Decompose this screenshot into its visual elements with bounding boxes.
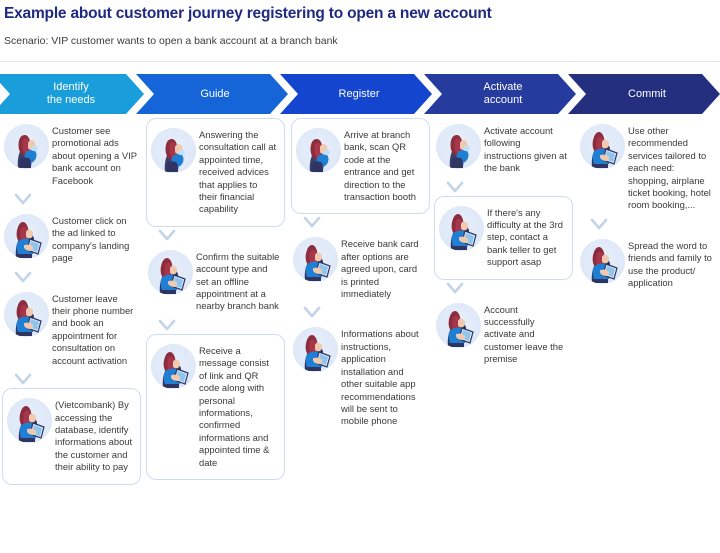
journey-column-1: Customer see promotional ads about openi… <box>2 118 141 487</box>
journey-step-text: Account successfully activate and custom… <box>484 302 569 366</box>
journey-step[interactable]: Customer see promotional ads about openi… <box>2 118 141 191</box>
person-laptop-avatar <box>580 239 625 284</box>
journey-step[interactable]: Confirm the suitable account type and se… <box>146 244 285 317</box>
journey-step-text: Answering the consultation call at appoi… <box>199 127 278 216</box>
person-laptop-avatar <box>293 327 338 372</box>
journey-step-text: Receive a message consist of link and QR… <box>199 343 278 469</box>
journey-column-3: Arrive at branch bank, scan QR code at t… <box>291 118 430 434</box>
chevron-down-icon <box>588 216 610 233</box>
journey-step-text: Arrive at branch bank, scan QR code at t… <box>344 127 423 203</box>
person-laptop-avatar <box>4 214 49 259</box>
stage-label: Guide <box>200 88 229 101</box>
journey-step-text: Use other recommended services tailored … <box>628 123 713 212</box>
person-laptop-avatar <box>293 237 338 282</box>
scenario-subtitle: Scenario: VIP customer wants to open a b… <box>4 34 704 48</box>
journey-step[interactable]: Account successfully activate and custom… <box>434 297 573 370</box>
journey-step-text: Informations about instructions, applica… <box>341 326 426 427</box>
person-phone-avatar <box>436 124 481 169</box>
stage-chevron-1[interactable]: Identifythe needs <box>0 74 144 114</box>
person-phone-avatar <box>151 128 196 173</box>
chevron-down-icon <box>444 179 466 196</box>
person-laptop-avatar <box>148 250 193 295</box>
chevron-down-icon <box>301 214 323 231</box>
journey-step[interactable]: Arrive at branch bank, scan QR code at t… <box>291 118 430 214</box>
stage-label: Register <box>339 88 380 101</box>
chevron-down-icon <box>444 280 466 297</box>
journey-step-text: (Vietcombank) By accessing the database,… <box>55 397 134 473</box>
stage-chevron-bar: Identifythe needsGuideRegisterActivateac… <box>0 74 720 114</box>
stage-chevron-4[interactable]: Activateaccount <box>424 74 576 114</box>
stage-chevron-2[interactable]: Guide <box>136 74 288 114</box>
stage-chevron-5[interactable]: Commit <box>568 74 720 114</box>
journey-step-text: Receive bank card after options are agre… <box>341 236 426 300</box>
journey-step-text: If there's any difficulty at the 3rd ste… <box>487 205 566 269</box>
person-laptop-avatar <box>151 344 196 389</box>
journey-step-text: Spread the word to friends and family to… <box>628 238 713 290</box>
journey-step[interactable]: Receive a message consist of link and QR… <box>146 334 285 480</box>
chevron-down-icon <box>12 191 34 208</box>
header-divider <box>0 61 720 62</box>
chevron-down-icon <box>301 304 323 321</box>
chevron-down-icon <box>156 227 178 244</box>
journey-column-4: Activate account following instructions … <box>434 118 573 372</box>
person-laptop-avatar <box>436 303 481 348</box>
chevron-down-icon <box>12 269 34 286</box>
person-laptop-avatar <box>4 292 49 337</box>
journey-step[interactable]: Informations about instructions, applica… <box>291 321 430 431</box>
person-laptop-avatar <box>439 206 484 251</box>
chevron-down-icon <box>156 317 178 334</box>
person-phone-avatar <box>296 128 341 173</box>
journey-step[interactable]: Use other recommended services tailored … <box>578 118 717 216</box>
journey-step-text: Confirm the suitable account type and se… <box>196 249 281 313</box>
journey-step[interactable]: Spread the word to friends and family to… <box>578 233 717 294</box>
journey-step[interactable]: Activate account following instructions … <box>434 118 573 179</box>
journey-step[interactable]: Receive bank card after options are agre… <box>291 231 430 304</box>
journey-column-2: Answering the consultation call at appoi… <box>146 118 285 482</box>
person-phone-avatar <box>4 124 49 169</box>
person-laptop-avatar <box>7 398 52 443</box>
customer-journey-diagram: Example about customer journey registeri… <box>0 0 720 553</box>
person-laptop-avatar <box>580 124 625 169</box>
stage-label: Identify <box>47 81 95 94</box>
journey-step-text: Customer see promotional ads about openi… <box>52 123 137 187</box>
stage-label-line2: the needs <box>47 94 95 107</box>
stage-label: Activate <box>483 81 522 94</box>
stage-label-line2: account <box>483 94 522 107</box>
journey-step[interactable]: If there's any difficulty at the 3rd ste… <box>434 196 573 280</box>
journey-step-text: Customer click on the ad linked to compa… <box>52 213 137 265</box>
journey-column-5: Use other recommended services tailored … <box>578 118 717 295</box>
stage-chevron-3[interactable]: Register <box>280 74 432 114</box>
journey-step[interactable]: Customer click on the ad linked to compa… <box>2 208 141 269</box>
journey-step[interactable]: (Vietcombank) By accessing the database,… <box>2 388 141 484</box>
stage-label: Commit <box>628 88 666 101</box>
page-title: Example about customer journey registeri… <box>4 4 704 24</box>
journey-step[interactable]: Answering the consultation call at appoi… <box>146 118 285 227</box>
journey-step-text: Customer leave their phone number and bo… <box>52 291 137 367</box>
chevron-down-icon <box>12 371 34 388</box>
journey-step-text: Activate account following instructions … <box>484 123 569 175</box>
journey-step[interactable]: Customer leave their phone number and bo… <box>2 286 141 371</box>
